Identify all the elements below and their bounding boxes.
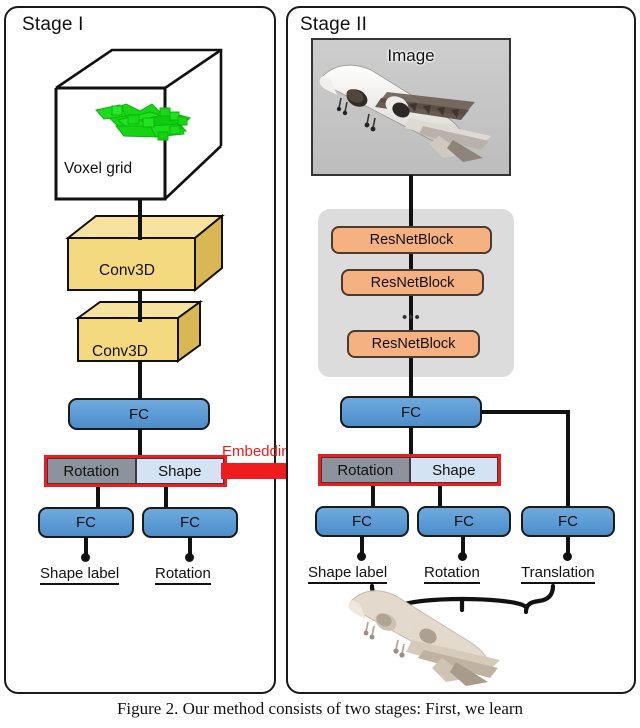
- resnet-block-2[interactable]: ResNetBlock: [341, 269, 484, 296]
- conv3d-label-1: Conv3D: [99, 262, 155, 280]
- stage-two-output-translation: Translation: [521, 564, 595, 584]
- stage-two-fc-head-3[interactable]: FC: [521, 506, 615, 537]
- connector-fc-to-embedding-s1: [138, 429, 142, 457]
- head3-endpoint-dot-s2: [563, 552, 572, 561]
- connector-conv2-to-fc: [138, 360, 142, 398]
- connector-backbone-to-fc: [409, 377, 413, 397]
- resnet-block-1[interactable]: ResNetBlock: [331, 226, 492, 254]
- head2-endpoint-dot-s1: [185, 553, 194, 562]
- head1-endpoint-dot-s2: [357, 552, 366, 561]
- stage-two-fc-main-label: FC: [401, 404, 421, 421]
- stage-one-output-shape-label: Shape label: [40, 565, 119, 585]
- stage-two-fc-head-1-label: FC: [352, 513, 372, 530]
- stage-one-fc-head-2-label: FC: [180, 514, 200, 531]
- stage-one-fc-main[interactable]: FC: [68, 398, 210, 430]
- stage-one-embedding-box[interactable]: Rotation Shape: [44, 455, 227, 487]
- stage-one-fc-head-1-label: FC: [76, 514, 96, 531]
- stage-two-fc-head-2-label: FC: [454, 513, 474, 530]
- stage-one-embedding-shape[interactable]: Shape: [136, 458, 225, 484]
- connector-fc-branch-vertical: [566, 410, 570, 510]
- stage-two-output-rotation: Rotation: [424, 564, 480, 584]
- stage-two-embedding-box[interactable]: Rotation Shape: [318, 454, 501, 486]
- resnet-block-2-label: ResNetBlock: [371, 275, 455, 291]
- head2-endpoint-dot-s2: [458, 552, 467, 561]
- stage-one-title: Stage I: [22, 14, 84, 36]
- stage-two-embedding-shape[interactable]: Shape: [410, 457, 499, 483]
- connector-conv1-top-stub: [138, 216, 142, 240]
- connector-embedding-to-fc-right-s2: [438, 486, 442, 507]
- stage-two-embedding-rotation[interactable]: Rotation: [321, 457, 410, 483]
- voxel-grid-label: Voxel grid: [64, 160, 132, 178]
- stage-one-fc-head-2[interactable]: FC: [142, 507, 238, 538]
- stage-two-fc-head-2[interactable]: FC: [417, 506, 511, 537]
- connector-image-to-backbone: [409, 175, 413, 209]
- stage-one-fc-head-1[interactable]: FC: [38, 507, 134, 538]
- figure-caption: Figure 2. Our method consists of two sta…: [0, 699, 640, 719]
- figure-root: Stage I Voxel grid: [0, 0, 640, 728]
- stage-one-fc-main-label: FC: [129, 406, 149, 423]
- connector-fc-to-embedding-s2: [409, 427, 413, 455]
- stage-two-fc-main[interactable]: FC: [340, 396, 482, 428]
- resnet-block-3-label: ResNetBlock: [372, 336, 456, 352]
- stage-one-embedding-rotation[interactable]: Rotation: [47, 458, 136, 484]
- head1-endpoint-dot-s1: [81, 553, 90, 562]
- connector-embedding-to-fc-right-s1: [164, 487, 168, 508]
- connector-embedding-to-fc-left-s1: [96, 487, 100, 508]
- connector-embedding-to-fc-left-s2: [371, 486, 375, 507]
- connector-conv2-top-stub: [138, 302, 142, 322]
- input-image-frame: Image: [311, 38, 511, 176]
- resnet-block-3[interactable]: ResNetBlock: [347, 330, 480, 358]
- conv3d-label-2: Conv3D: [92, 343, 148, 361]
- stage-two-output-shape-label: Shape label: [308, 564, 387, 584]
- stage-two-title: Stage II: [300, 14, 367, 36]
- resnet-block-1-label: ResNetBlock: [370, 232, 454, 248]
- stage-one-output-rotation: Rotation: [155, 565, 211, 585]
- stage-two-fc-head-1[interactable]: FC: [315, 506, 409, 537]
- resnet-ellipsis: •••: [402, 310, 421, 325]
- input-image-caption: Image: [313, 46, 509, 66]
- stage-two-fc-head-3-label: FC: [558, 513, 578, 530]
- connector-fc-branch-horizontal: [481, 410, 569, 414]
